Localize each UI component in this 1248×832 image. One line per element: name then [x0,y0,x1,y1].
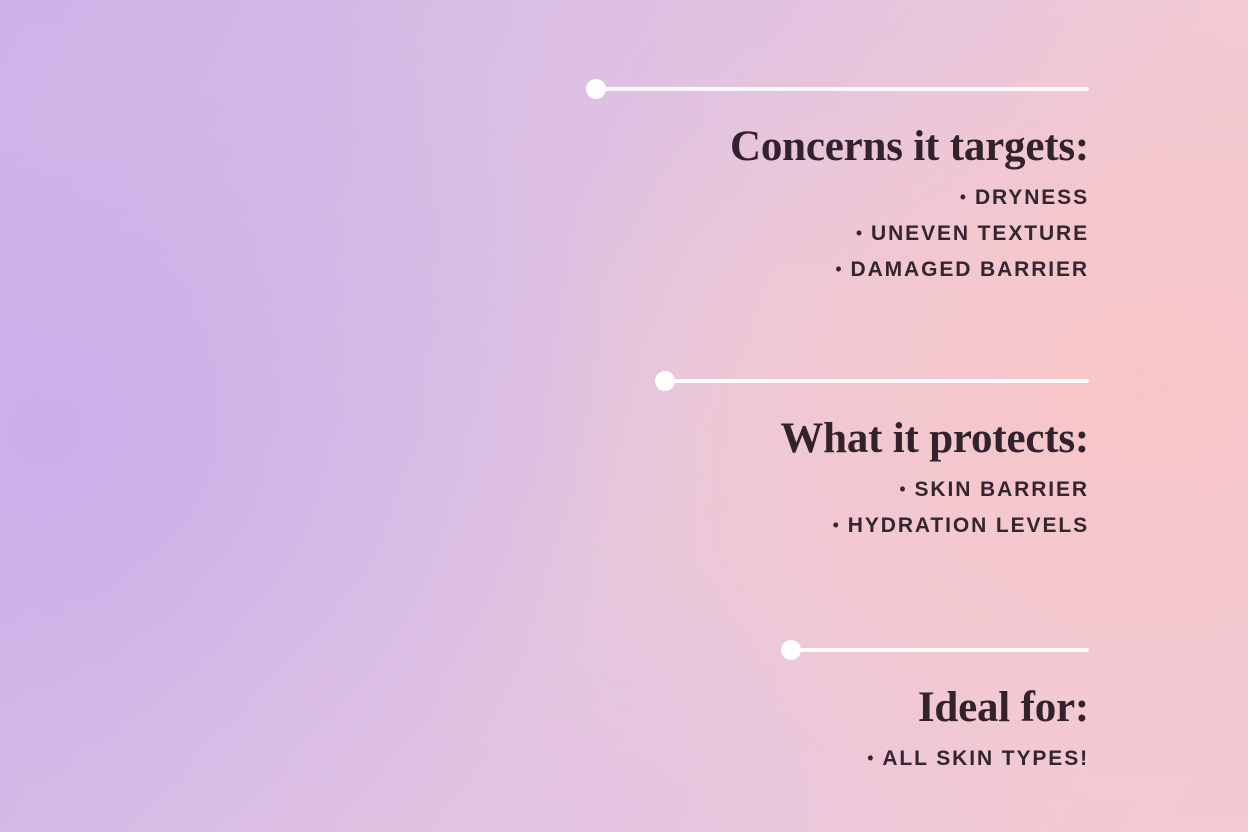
section-divider-protects [655,371,1089,391]
list-item-label: SKIN BARRIER [915,478,1089,501]
slide-canvas: Concerns it targets: •DRYNESS •UNEVEN TE… [0,0,1248,832]
list-item: •HYDRATION LEVELS [655,514,1089,538]
section-protects: What it protects: •SKIN BARRIER •HYDRATI… [655,371,1089,550]
list-item-label: DRYNESS [975,186,1089,209]
section-divider-concerns [586,79,1089,99]
section-heading-ideal: Ideal for: [781,686,1089,729]
bullet-point-icon: • [835,259,841,280]
list-item: •UNEVEN TEXTURE [586,222,1089,246]
list-item: •ALL SKIN TYPES! [781,747,1089,771]
list-item-label: HYDRATION LEVELS [848,514,1089,537]
bullet-point-icon: • [960,187,966,208]
section-heading-protects: What it protects: [655,417,1089,460]
bullet-point-icon: • [856,223,862,244]
divider-line-icon [795,648,1089,652]
bullet-point-icon: • [899,479,905,500]
divider-dot-icon [655,371,675,391]
list-item-label: DAMAGED BARRIER [851,258,1090,281]
divider-line-icon [600,87,1089,91]
bullet-list-concerns: •DRYNESS •UNEVEN TEXTURE •DAMAGED BARRIE… [586,186,1089,282]
bullet-point-icon: • [833,515,839,536]
section-divider-ideal [781,640,1089,660]
list-item-label: ALL SKIN TYPES! [882,747,1089,770]
list-item: •DRYNESS [586,186,1089,210]
bullet-list-ideal: •ALL SKIN TYPES! [781,747,1089,771]
section-heading-concerns: Concerns it targets: [586,125,1089,168]
divider-dot-icon [586,79,606,99]
divider-line-icon [669,379,1089,383]
list-item: •DAMAGED BARRIER [586,258,1089,282]
list-item-label: UNEVEN TEXTURE [871,222,1089,245]
bullet-list-protects: •SKIN BARRIER •HYDRATION LEVELS [655,478,1089,538]
section-ideal-for: Ideal for: •ALL SKIN TYPES! [781,640,1089,783]
divider-dot-icon [781,640,801,660]
list-item: •SKIN BARRIER [655,478,1089,502]
bullet-point-icon: • [867,748,873,769]
section-concerns: Concerns it targets: •DRYNESS •UNEVEN TE… [586,79,1089,294]
